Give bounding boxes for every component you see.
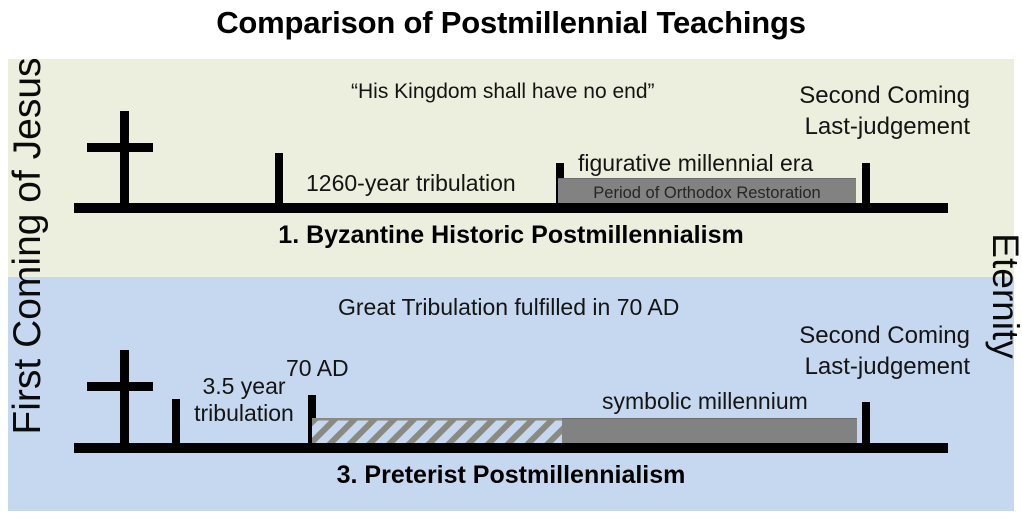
byzantine-second-coming-line2: Last-judgement	[668, 112, 970, 141]
byzantine-era-label: figurative millennial era	[578, 149, 813, 177]
axis-label-eternity: Eternity	[984, 96, 1022, 496]
panel-byzantine: “His Kingdom shall have no end” Second C…	[8, 59, 1014, 277]
diagram-canvas: Comparison of Postmillennial Teachings “…	[0, 0, 1022, 519]
preterist-second-coming-line2: Last-judgement	[668, 352, 970, 381]
preterist-tribulation-label-line2: tribulation	[180, 400, 308, 427]
panel-preterist: Great Tribulation fulfilled in 70 AD Sec…	[8, 277, 1014, 511]
byzantine-panel-caption: 1. Byzantine Historic Postmillennialism	[8, 219, 1014, 251]
preterist-tribulation-label-line1: 3.5 year	[180, 373, 308, 400]
byzantine-orthodox-restoration-band: Period of Orthodox Restoration	[558, 178, 856, 204]
preterist-top-quote: Great Tribulation fulfilled in 70 AD	[338, 293, 679, 321]
axis-label-first-coming: First Coming of Jesus	[6, 16, 50, 476]
byzantine-band-label: Period of Orthodox Restoration	[558, 181, 856, 205]
byzantine-tribulation-label: 1260-year tribulation	[306, 169, 516, 197]
cross-icon-vertical-top	[120, 111, 129, 212]
preterist-second-coming-line1: Second Coming	[668, 321, 970, 350]
cross-icon-vertical-bottom	[120, 350, 129, 451]
preterist-timeline-axis	[74, 443, 948, 453]
cross-icon-horizontal-top	[87, 143, 153, 152]
page-title: Comparison of Postmillennial Teachings	[0, 4, 1022, 42]
cross-icon-horizontal-bottom	[87, 382, 153, 391]
preterist-panel-caption: 3. Preterist Postmillennialism	[8, 459, 1014, 491]
preterist-millennium-label: symbolic millennium	[602, 387, 808, 415]
byzantine-timeline-axis	[74, 203, 948, 213]
byzantine-second-coming-line1: Second Coming	[668, 81, 970, 110]
byzantine-top-quote: “His Kingdom shall have no end”	[351, 79, 655, 105]
